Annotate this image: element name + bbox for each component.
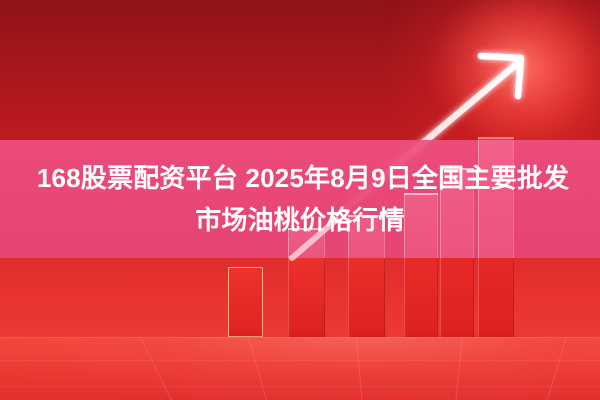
bar-face [228,267,263,337]
bar-top-edge [478,137,514,139]
headline-text: 168股票配资平台 2025年8月9日全国主要批发 市场油桃价格行情 [0,140,600,258]
chart-bar [228,267,263,337]
floor-horizon-line [0,337,600,338]
floor-sheen [0,337,600,400]
headline-line-1: 168股票配资平台 2025年8月9日全国主要批发 [31,157,569,199]
floor-grid-line [0,360,600,361]
headline-line-2: 市场油桃价格行情 [195,199,405,241]
promo-banner-image: 168股票配资平台 2025年8月9日全国主要批发 市场油桃价格行情 [0,0,600,400]
floor-grid-line [0,386,600,387]
